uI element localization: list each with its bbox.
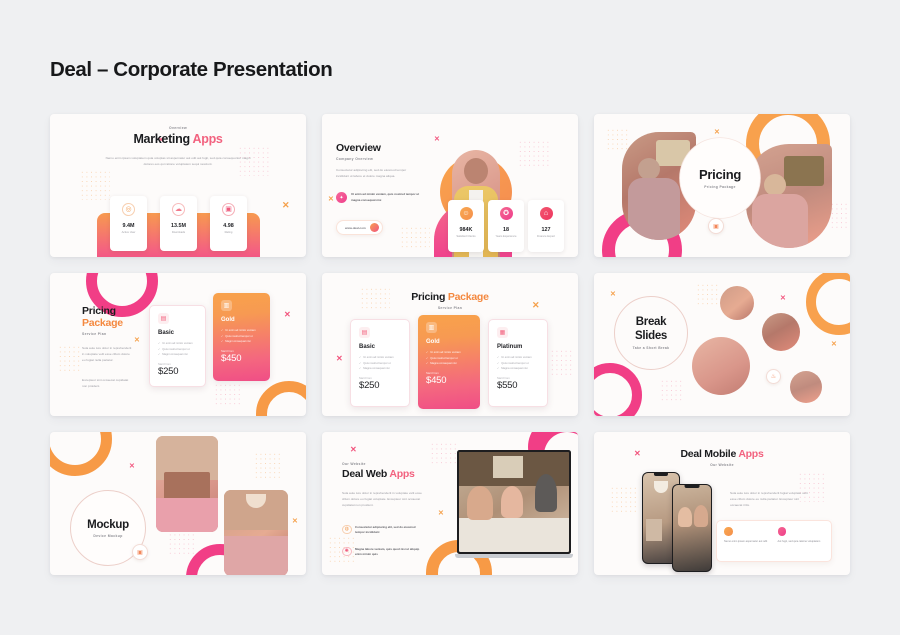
slide-title: Mockup — [87, 519, 129, 531]
dot-grid-decor — [696, 283, 720, 305]
photo-shape — [764, 174, 786, 196]
phone-mockup-front — [672, 484, 712, 572]
bag-icon: ▥ — [426, 322, 437, 333]
orange-ring-decor — [256, 381, 306, 416]
star-rating-icon: ▣ — [222, 203, 235, 216]
check-icon: ✓ — [359, 366, 361, 372]
plan-feature: ✓Magna consequat nisi — [359, 366, 401, 372]
dot-grid-decor — [606, 128, 630, 150]
stat-card[interactable]: ✪ 18 Years Experience — [488, 200, 524, 252]
lock-icon: ▦ — [497, 327, 508, 338]
title-accent: Package — [448, 291, 489, 303]
photo-shape — [628, 178, 680, 240]
info-item: Aut fugit, sed quia ratione voluptatem — [778, 527, 825, 555]
highlight-text: Ut enim ad minim veniam, quis nostrud te… — [351, 192, 424, 203]
photo-portrait-1 — [156, 436, 218, 532]
photo-shape — [752, 194, 808, 248]
stat-label: Years Experience — [496, 235, 517, 238]
check-icon: ✓ — [221, 339, 223, 345]
x-decor-icon: ✕ — [129, 463, 135, 470]
dot-grid-decor — [830, 202, 848, 228]
eyebrow-label: Service Plan — [322, 306, 578, 310]
plan-feature-list: ✓Ut enim ad minim veniam ✓Quis nostrud t… — [497, 355, 539, 372]
slide-mockup[interactable]: ✕ ✕ Mockup Device Mockup ▣ — [50, 432, 306, 575]
orange-ring-decor — [50, 432, 112, 476]
x-decor-icon: ✕ — [780, 295, 786, 302]
phone-screen — [673, 485, 710, 570]
dot-grid-decor — [254, 452, 280, 478]
title-circle: Pricing Pricing Package — [680, 138, 760, 218]
eyebrow-label: Our Website — [594, 463, 850, 467]
chart-icon: ⌂ — [540, 207, 553, 220]
bulb-icon — [724, 527, 733, 536]
arrow-icon — [370, 223, 379, 232]
plan-name: Gold — [426, 339, 472, 345]
plan-feature-list: ✓Ut enim ad minim veniam ✓Quis nostrud t… — [426, 350, 472, 367]
slide-body-text: Nemo enim ipsam voluptatem quia voluptas… — [105, 155, 251, 167]
eyebrow-label: Device Mockup — [93, 534, 122, 538]
cloud-download-icon: ☁ — [172, 203, 185, 216]
plan-name: Basic — [359, 344, 401, 350]
bullet-item: ◍ Consectetur adipiscing elit, sed do ei… — [342, 525, 426, 536]
photo-circle — [762, 313, 800, 351]
plan-name: Gold — [221, 317, 262, 323]
title-plain: Deal Web — [342, 468, 389, 480]
slide-title: Pricing Package — [322, 291, 578, 303]
photo-shape — [784, 156, 824, 186]
slide-body-text: Sola aute iure dolor in reprehenderit in… — [342, 490, 422, 508]
stat-value: 4.98 — [223, 223, 234, 229]
page-title: Deal – Corporate Presentation — [50, 58, 332, 82]
info-card[interactable]: Nemo enim ipsam aspernatur aut odit Aut … — [716, 520, 832, 562]
stat-value: 18 — [503, 227, 509, 233]
slide-pricing-package-two[interactable]: ✕ ✕ Pricing Package Service Plan Sola au… — [50, 273, 306, 416]
photo-shape — [467, 486, 493, 520]
orange-ring-decor — [806, 273, 850, 335]
slide-heading-block: Pricing Package Service Plan — [82, 305, 144, 336]
presentation-preview-page: Deal – Corporate Presentation ✕ ✕ Overvi… — [0, 0, 900, 635]
award-icon: ✪ — [500, 207, 513, 220]
plan-feature: ✓Magni consequat nisi — [158, 352, 197, 358]
slide-heading-block: Overview Company Overview — [336, 142, 381, 161]
plan-price: $450 — [426, 375, 472, 386]
eyebrow-label: Take a Short Break — [633, 346, 670, 350]
check-icon: ✓ — [158, 352, 160, 358]
person-photo-right — [746, 144, 832, 248]
slide-heading-block: Pricing Package Service Plan — [322, 291, 578, 310]
title-circle: Break Slides Take a Short Break — [614, 296, 688, 370]
photo-shape — [535, 474, 557, 512]
slide-heading-block: Our Website Deal Web Apps — [342, 462, 432, 480]
stat-value: 9.4M — [123, 223, 135, 229]
plan-name: Platinum — [497, 344, 539, 350]
badge-icon: ✦ — [336, 192, 347, 203]
slide-pricing-package-three[interactable]: ✕ ✕ Pricing Package Service Plan ▤ Basic… — [322, 273, 578, 416]
dot-grid-decor — [610, 486, 636, 514]
laptop-base — [455, 554, 573, 558]
stat-label: Satisfied Clients — [456, 235, 475, 238]
slide-overview[interactable]: ✕ ✕ Overview Company Overview Consectetu… — [322, 114, 578, 257]
photo-shape — [638, 158, 660, 180]
info-text: Nemo enim ipsam aspernatur aut odit — [724, 540, 771, 545]
title-accent: Package — [82, 317, 144, 329]
photo-shape — [646, 519, 662, 541]
x-decor-icon: ✕ — [336, 355, 343, 363]
x-decor-icon: ✕ — [284, 311, 291, 319]
title-accent: Apps — [193, 132, 223, 146]
website-link-pill[interactable]: www.deal.com — [336, 220, 383, 235]
plan-feature: ✓Magna consequat nisi — [426, 361, 472, 367]
slide-body-text: Sola aute iure dolor in reprehenderit fu… — [730, 490, 812, 508]
plan-price: $250 — [359, 380, 401, 391]
photo-circle — [720, 286, 754, 320]
slide-title: Pricing — [699, 167, 741, 182]
laptop-mockup — [455, 450, 573, 560]
slide-body-text-1: Sola aute iure dolor in reprehenderit in… — [82, 345, 132, 363]
slide-deal-mobile-apps[interactable]: ✕ ✕ Deal Mobile Apps Our Website — [594, 432, 850, 575]
dot-grid-decor — [80, 170, 110, 200]
photo-shape — [224, 536, 288, 575]
shield-icon: ◍ — [342, 525, 352, 535]
pricing-card-platinum[interactable]: ▦ Platinum ✓Ut enim ad minim veniam ✓Qui… — [488, 319, 548, 407]
photo-shape — [464, 158, 488, 184]
stat-label: Finance Expert — [537, 235, 555, 238]
slide-title: Overview — [336, 142, 381, 154]
highlight-row: ✦ Ut enim ad minim veniam, quis nostrud … — [336, 192, 424, 203]
photo-circle — [692, 337, 750, 395]
eyebrow-label: Company Overview — [336, 157, 381, 161]
plan-price: $450 — [221, 353, 262, 364]
gift-icon: ▤ — [158, 313, 169, 324]
photo-shape — [678, 507, 692, 527]
check-icon: ✓ — [497, 366, 499, 372]
slide-pricing-cover[interactable]: ✕ ✕ Pricing Pricing Package ▣ — [594, 114, 850, 257]
image-icon[interactable]: ▣ — [132, 544, 148, 560]
photo-shape — [694, 505, 708, 527]
bullet-text: Consectetur adipiscing elit, sed do eius… — [355, 525, 426, 536]
photo-circle — [790, 371, 822, 403]
x-decor-icon: ✕ — [350, 446, 357, 454]
x-decor-icon: ✕ — [282, 201, 290, 210]
eyebrow-label: Overview — [50, 126, 306, 130]
heart-icon — [778, 527, 787, 536]
slide-body-text-2: Excepteur sint occaecat cupidatat non pr… — [82, 377, 132, 389]
photo-shape — [493, 456, 523, 478]
stat-card[interactable]: ☺ 984K Satisfied Clients — [448, 200, 484, 252]
dot-grid-decor — [214, 383, 240, 407]
bag-icon: ▥ — [221, 300, 232, 311]
slide-title: Deal Web Apps — [342, 468, 432, 480]
check-icon: ✓ — [426, 361, 428, 367]
dot-grid-decor — [168, 528, 194, 556]
stat-label: Downloads — [172, 231, 185, 234]
user-icon: ◎ — [122, 203, 135, 216]
laptop-screen — [457, 450, 571, 554]
eyebrow-label: Our Website — [342, 462, 432, 466]
title-plain: Marketing — [133, 132, 192, 146]
bullet-text: Magna labore veniam, quis quod nisi ut a… — [355, 547, 426, 558]
title-accent: Apps — [738, 448, 763, 460]
pink-ring-decor — [594, 363, 642, 416]
phone-photo — [673, 485, 710, 570]
dot-grid-decor — [58, 345, 80, 371]
photo-shape — [156, 498, 218, 532]
slide-title: Deal Mobile Apps — [594, 448, 850, 460]
dot-grid-decor — [518, 140, 550, 168]
photo-shape — [459, 518, 570, 552]
slide-deal-web-apps[interactable]: ✕ ✕ Our Website Deal Web Apps Sola aute … — [322, 432, 578, 575]
gear-icon: ✺ — [342, 547, 352, 557]
slides-grid: ✕ ✕ Overview Marketing Apps Nemo enim ip… — [50, 114, 850, 575]
slide-title-line1: Break — [636, 316, 666, 329]
pricing-card-basic[interactable]: ▤ Basic ✓Ut enim ad minim veniam ✓Quis n… — [350, 319, 410, 407]
stat-value: 984K — [460, 227, 473, 233]
stat-label: Active User — [122, 231, 136, 234]
dot-grid-decor — [660, 379, 684, 403]
stat-label: Rating — [225, 231, 233, 234]
info-text: Aut fugit, sed quia ratione voluptatem — [778, 540, 825, 545]
plan-price: $250 — [158, 366, 197, 377]
slide-break-slides[interactable]: ✕ ✕ ✕ Break Slides Take a Short Break ♨ — [594, 273, 850, 416]
plan-feature-list: ✓Ut enim ad minim veniam ✓Quis nostrud t… — [158, 341, 197, 358]
stat-card[interactable]: ◎ 9.4M Active User — [110, 196, 147, 251]
stat-value: 127 — [542, 227, 551, 233]
dot-grid-decor — [430, 442, 456, 464]
bullet-item: ✺ Magna labore veniam, quis quod nisi ut… — [342, 547, 426, 558]
pricing-card-gold[interactable]: ▥ Gold ✓Ut enim ad minim veniam ✓Quis no… — [213, 293, 270, 381]
plan-feature-list: ✓Ut enim ad minim veniam ✓Quis nostrud t… — [221, 328, 262, 345]
cup-icon[interactable]: ♨ — [766, 369, 781, 384]
eyebrow-label: Service Plan — [82, 332, 144, 336]
title-plain: Pricing — [82, 305, 144, 317]
x-decor-icon: ✕ — [292, 518, 298, 525]
x-decor-icon: ✕ — [831, 341, 837, 348]
pricing-card-gold[interactable]: ▥ Gold ✓Ut enim ad minim veniam ✓Quis no… — [418, 315, 480, 409]
slide-marketing-apps[interactable]: ✕ ✕ Overview Marketing Apps Nemo enim ip… — [50, 114, 306, 257]
smile-icon: ☺ — [460, 207, 473, 220]
eyebrow-label: Pricing Package — [704, 185, 735, 189]
slide-title-line2: Slides — [635, 330, 667, 343]
plan-feature: ✓Magni consequat nisi — [221, 339, 262, 345]
title-accent: Apps — [389, 468, 414, 480]
slide-heading-block: Deal Mobile Apps Our Website — [594, 448, 850, 467]
dot-grid-decor — [550, 349, 574, 377]
x-decor-icon: ✕ — [134, 337, 140, 344]
gift-icon: ▤ — [359, 327, 370, 338]
plan-name: Basic — [158, 330, 197, 336]
photo-shape — [501, 486, 523, 518]
slide-heading-block: Overview Marketing Apps — [50, 126, 306, 146]
website-link-label: www.deal.com — [345, 226, 366, 230]
x-decor-icon: ✕ — [434, 136, 440, 143]
stat-value: 13.5M — [171, 223, 186, 229]
pricing-card-basic[interactable]: ▤ Basic ✓Ut enim ad minim veniam ✓Quis n… — [149, 305, 206, 387]
title-plain: Pricing — [411, 291, 448, 303]
plan-feature: ✓Magna consequat nisi — [497, 366, 539, 372]
stat-card[interactable]: ☁ 13.5M Downloads — [160, 196, 197, 251]
x-decor-icon: ✕ — [438, 510, 444, 517]
laptop-screen-photo — [459, 452, 570, 553]
stat-card[interactable]: ▣ 4.98 Rating — [210, 196, 247, 251]
title-plain: Deal Mobile — [680, 448, 738, 460]
photo-portrait-2 — [224, 490, 288, 575]
x-decor-icon: ✕ — [610, 291, 616, 298]
x-decor-icon: ✕ — [714, 129, 720, 136]
plan-price: $550 — [497, 380, 539, 391]
slide-body-text: Consectetur adipiscing elit, sed do eius… — [336, 167, 412, 179]
dot-grid-decor — [400, 226, 430, 248]
x-decor-icon: ✕ — [328, 196, 334, 203]
image-icon[interactable]: ▣ — [708, 218, 724, 234]
plan-feature-list: ✓Ut enim ad minim veniam ✓Quis nostrud t… — [359, 355, 401, 372]
slide-title: Marketing Apps — [50, 132, 306, 146]
stat-card[interactable]: ⌂ 127 Finance Expert — [528, 200, 564, 252]
info-item: Nemo enim ipsam aspernatur aut odit — [724, 527, 771, 555]
